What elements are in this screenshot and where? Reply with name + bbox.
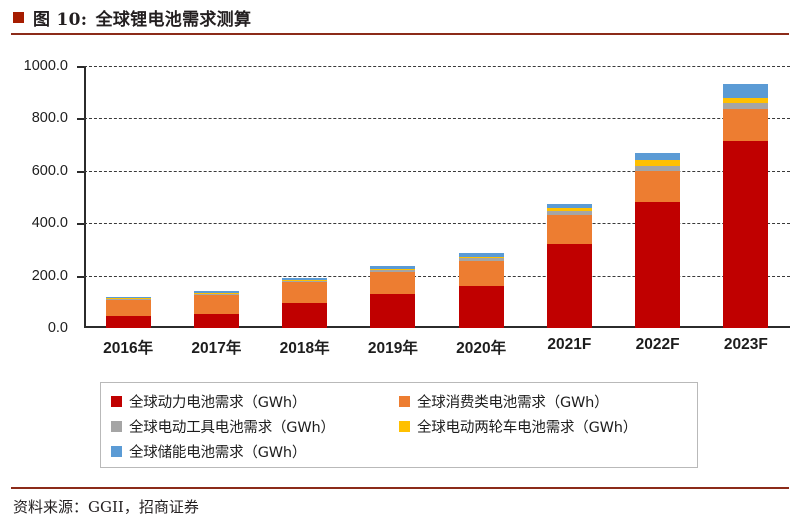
stacked-bar [635, 153, 680, 329]
header-marker-icon [13, 12, 24, 23]
legend-swatch-icon [399, 421, 410, 432]
bar-segment [106, 300, 151, 316]
y-axis-tick-label: 600.0 [0, 163, 68, 179]
legend-swatch-icon [111, 396, 122, 407]
stacked-bar [459, 253, 504, 328]
x-axis-tick-label: 2023F [702, 336, 790, 358]
y-axis-tick-label: 400.0 [0, 215, 68, 231]
bar-segment [723, 109, 768, 140]
bar-segment [635, 153, 680, 161]
bar-segment [194, 295, 239, 314]
bar-group [172, 66, 260, 328]
figure-title-text: 全球锂电池需求测算 [96, 10, 252, 30]
bar-segment [370, 294, 415, 328]
legend-item[interactable]: 全球储能电池需求（GWh） [111, 439, 399, 464]
bar-segment [547, 215, 592, 244]
page-title: 图 10: 全球锂电池需求测算 [33, 5, 251, 30]
bar-segment [635, 171, 680, 202]
bar-group [525, 66, 613, 328]
x-axis-labels: 2016年2017年2018年2019年2020年2021F2022F2023F [84, 336, 790, 358]
legend-item-label: 全球电动工具电池需求（GWh） [129, 416, 335, 437]
bar-segment [635, 202, 680, 328]
y-axis-tick [77, 223, 84, 225]
bar-segment [282, 282, 327, 302]
y-axis-tick-label: 800.0 [0, 110, 68, 126]
bar-segment [370, 272, 415, 294]
chart-legend: 全球动力电池需求（GWh）全球消费类电池需求（GWh）全球电动工具电池需求（GW… [100, 382, 698, 468]
chart-bars [84, 66, 790, 328]
figure-footer: 资料来源：GGII，招商证券 [13, 492, 783, 520]
legend-item[interactable]: 全球电动工具电池需求（GWh） [111, 414, 399, 439]
bar-segment [547, 244, 592, 328]
x-axis-tick-label: 2022F [614, 336, 702, 358]
legend-item[interactable]: 全球动力电池需求（GWh） [111, 389, 399, 414]
legend-swatch-icon [111, 446, 122, 457]
bar-segment [459, 261, 504, 286]
bar-group [702, 66, 790, 328]
y-axis-tick-label: 0.0 [0, 320, 68, 336]
x-axis-tick-label: 2016年 [84, 336, 172, 358]
stacked-bar [194, 291, 239, 328]
legend-item-label: 全球电动两轮车电池需求（GWh） [417, 416, 637, 437]
y-axis-tick [77, 66, 84, 68]
legend-item[interactable]: 全球消费类电池需求（GWh） [399, 389, 687, 414]
legend-item-label: 全球储能电池需求（GWh） [129, 441, 306, 462]
bar-group [261, 66, 349, 328]
stacked-bar [370, 266, 415, 328]
legend-swatch-icon [111, 421, 122, 432]
y-axis-tick-label: 200.0 [0, 268, 68, 284]
x-axis-tick-label: 2021F [525, 336, 613, 358]
bar-segment [723, 141, 768, 328]
bar-segment [459, 286, 504, 328]
bar-group [349, 66, 437, 328]
legend-item[interactable]: 全球电动两轮车电池需求（GWh） [399, 414, 687, 439]
y-axis-tick [77, 171, 84, 173]
legend-swatch-icon [399, 396, 410, 407]
bar-segment [194, 314, 239, 328]
legend-item-label: 全球动力电池需求（GWh） [129, 391, 306, 412]
bar-segment [723, 84, 768, 97]
legend-item-label: 全球消费类电池需求（GWh） [417, 391, 608, 412]
x-axis-tick-label: 2020年 [437, 336, 525, 358]
bar-segment [106, 316, 151, 328]
bar-group [614, 66, 702, 328]
figure-number: 图 10: [33, 10, 87, 30]
bar-group [84, 66, 172, 328]
stacked-bar [723, 84, 768, 328]
footer-divider [11, 487, 789, 489]
chart-plot-area: 0.0200.0400.0600.0800.01000.0 [84, 66, 790, 328]
x-axis-tick-label: 2019年 [349, 336, 437, 358]
y-axis-tick [77, 118, 84, 120]
stacked-bar [282, 278, 327, 328]
y-axis-tick-label: 1000.0 [0, 58, 68, 74]
bar-group [437, 66, 525, 328]
bar-segment [282, 303, 327, 328]
y-axis-tick [77, 276, 84, 278]
x-axis-tick-label: 2018年 [261, 336, 349, 358]
figure-header: 图 10: 全球锂电池需求测算 [0, 0, 800, 34]
stacked-bar [106, 297, 151, 328]
header-divider [11, 33, 789, 35]
x-axis-tick-label: 2017年 [172, 336, 260, 358]
stacked-bar [547, 204, 592, 328]
source-note: 资料来源：GGII，招商证券 [13, 496, 199, 517]
